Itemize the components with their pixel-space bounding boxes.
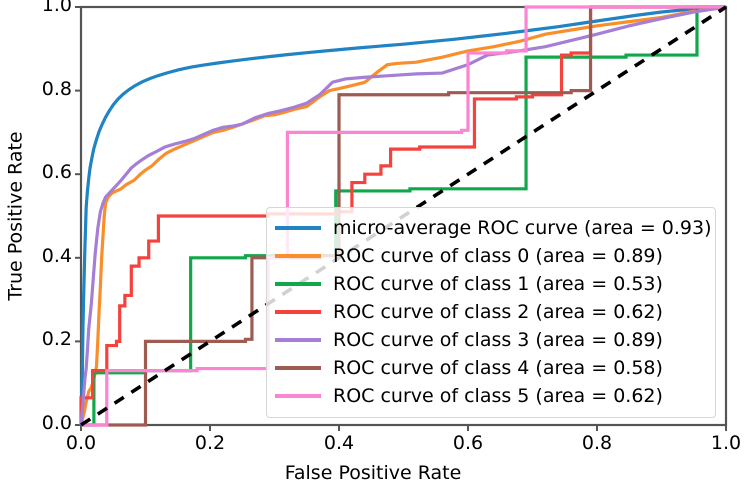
x-tick-label: 0.8 xyxy=(575,432,619,454)
y-axis-title-text: True Positive Rate xyxy=(5,131,27,300)
x-tick-label: 1.0 xyxy=(704,432,746,454)
legend-color-swatch xyxy=(275,282,321,286)
legend-label: ROC curve of class 0 (area = 0.89) xyxy=(333,245,663,267)
legend-item: ROC curve of class 2 (area = 0.62) xyxy=(275,298,705,326)
y-tick-label: 0.8 xyxy=(24,78,72,100)
legend-label: ROC curve of class 3 (area = 0.89) xyxy=(333,329,663,351)
legend-item: ROC curve of class 5 (area = 0.62) xyxy=(275,382,705,410)
legend-color-swatch xyxy=(275,310,321,314)
legend-label: ROC curve of class 4 (area = 0.58) xyxy=(333,357,663,379)
legend-label: ROC curve of class 5 (area = 0.62) xyxy=(333,385,663,407)
legend-label: ROC curve of class 1 (area = 0.53) xyxy=(333,273,663,295)
x-tick-label: 0.0 xyxy=(59,432,103,454)
y-tick-label: 0.6 xyxy=(24,161,72,183)
y-tick-label: 1.0 xyxy=(24,0,72,16)
y-tick-label: 0.0 xyxy=(24,412,72,434)
y-tick-label: 0.2 xyxy=(24,328,72,350)
legend-item: ROC curve of class 1 (area = 0.53) xyxy=(275,270,705,298)
y-axis-title: True Positive Rate xyxy=(2,0,30,432)
legend-color-swatch xyxy=(275,226,321,230)
x-tick-label: 0.2 xyxy=(188,432,232,454)
x-axis-title: False Positive Rate xyxy=(0,462,746,484)
legend-item: ROC curve of class 3 (area = 0.89) xyxy=(275,326,705,354)
roc-curve-figure: True Positive Rate False Positive Rate 0… xyxy=(0,0,746,494)
legend-color-swatch xyxy=(275,366,321,370)
legend-item: ROC curve of class 0 (area = 0.89) xyxy=(275,242,705,270)
legend-item: micro-average ROC curve (area = 0.93) xyxy=(275,214,705,242)
y-tick-label: 0.4 xyxy=(24,245,72,267)
x-tick-label: 0.4 xyxy=(317,432,361,454)
legend-item: ROC curve of class 4 (area = 0.58) xyxy=(275,354,705,382)
legend-color-swatch xyxy=(275,254,321,258)
legend: micro-average ROC curve (area = 0.93)ROC… xyxy=(266,207,716,418)
legend-color-swatch xyxy=(275,338,321,342)
legend-label: micro-average ROC curve (area = 0.93) xyxy=(333,217,712,239)
legend-color-swatch xyxy=(275,394,321,398)
legend-label: ROC curve of class 2 (area = 0.62) xyxy=(333,301,663,323)
x-tick-label: 0.6 xyxy=(446,432,490,454)
